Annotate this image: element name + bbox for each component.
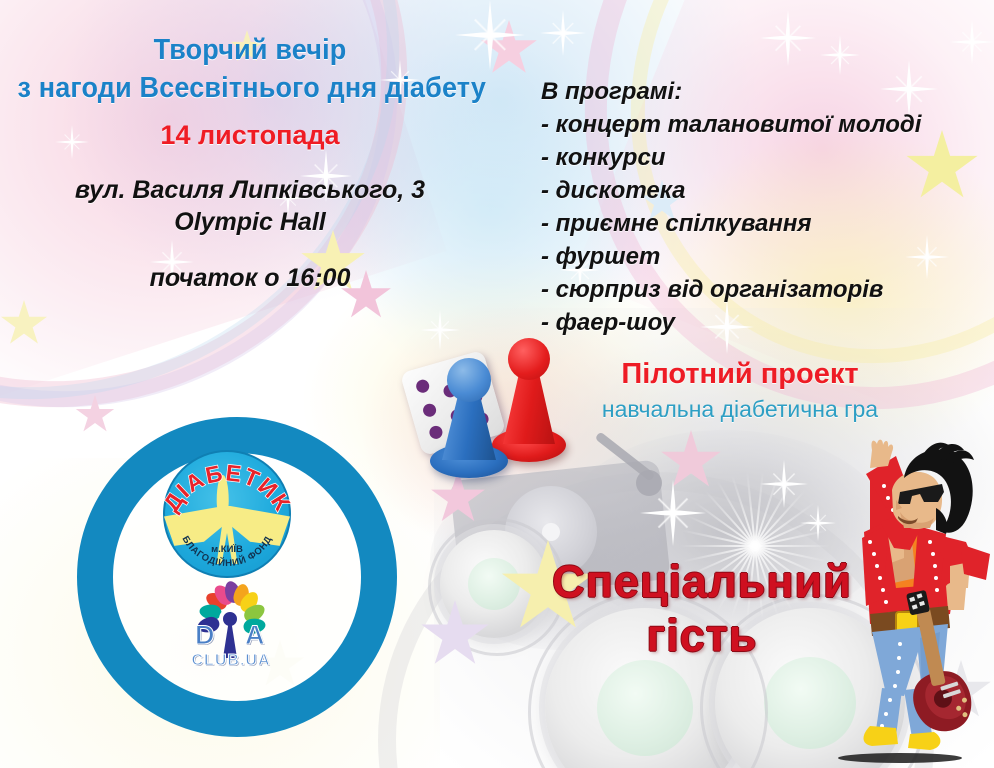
- bg-turntable-arm-base: [636, 470, 662, 496]
- poster-title-line2: з нагоди Всесвітнього дня діабету: [18, 72, 483, 105]
- bg-sparkle-12: [640, 480, 706, 546]
- diabetik-logo-text: ДІАБЕТИК БЛАГОДІЙНИЙ ФОНД м.КИЇВ: [157, 444, 297, 584]
- diabetik-foundation-logo: ДІАБЕТИК БЛАГОДІЙНИЙ ФОНД м.КИЇВ: [157, 444, 297, 584]
- poster-canvas: ДІАБЕТИК БЛАГОДІЙНИЙ ФОНД м.КИЇВ D A CLU…: [0, 0, 994, 768]
- special-guest-line2: гість: [542, 610, 862, 662]
- address-venue: Olympic Hall: [0, 208, 500, 237]
- program-item-3: - приємне спілкування: [541, 207, 989, 240]
- program-item-6: - фаер-шоу: [541, 306, 989, 339]
- diabetik-arc-label: ДІАБЕТИК: [158, 459, 296, 516]
- svg-text:ДІАБЕТИК: ДІАБЕТИК: [158, 459, 296, 516]
- program-block: В програмі: - концерт талановитої молоді…: [541, 75, 989, 339]
- bg-star-yellow-5: [0, 300, 48, 348]
- program-item-0: - концерт талановитої молоді: [541, 108, 989, 141]
- special-guest-line1: Спеціальний: [542, 556, 862, 608]
- poster-title-line1: Творчий вечір: [18, 34, 483, 67]
- start-time: початок о 16:00: [0, 264, 500, 293]
- pilot-project-subtitle: навчальна діабетична гра: [550, 396, 930, 423]
- address-street: вул. Василя Липківського, 3: [0, 176, 500, 205]
- bg-turntable-arm: [595, 431, 656, 481]
- bg-star-lilac-1: [420, 600, 490, 670]
- red-pawn-head: [508, 338, 550, 380]
- program-item-5: - сюрприз від організаторів: [541, 273, 989, 306]
- program-heading: В програмі:: [541, 75, 989, 108]
- bg-speaker-small: [440, 530, 548, 638]
- bg-star-pink-1: [480, 20, 538, 78]
- blue-game-pawn: [430, 358, 508, 480]
- bg-sparkle-6: [950, 20, 994, 64]
- pilot-project-title: Пілотний проект: [560, 358, 920, 391]
- bg-star-pink-5: [75, 395, 115, 435]
- blue-pawn-head: [447, 358, 491, 402]
- dia-club-logo: D A CLUB.UA: [185, 584, 277, 668]
- dia-club-letter-a: A: [245, 620, 265, 651]
- event-date: 14 листопада: [0, 120, 500, 151]
- bg-star-pink-4: [660, 430, 722, 492]
- bg-sparkle-2: [540, 10, 586, 56]
- bg-sparkle-4: [820, 35, 860, 75]
- bg-sparkle-3: [760, 10, 816, 66]
- program-item-1: - конкурси: [541, 141, 989, 174]
- dia-club-letter-d: D: [195, 620, 215, 651]
- diabetik-city-label: м.КИЇВ: [211, 544, 243, 555]
- program-item-2: - дискотека: [541, 174, 989, 207]
- dia-club-word: CLUB.UA: [185, 652, 277, 670]
- program-item-4: - фуршет: [541, 240, 989, 273]
